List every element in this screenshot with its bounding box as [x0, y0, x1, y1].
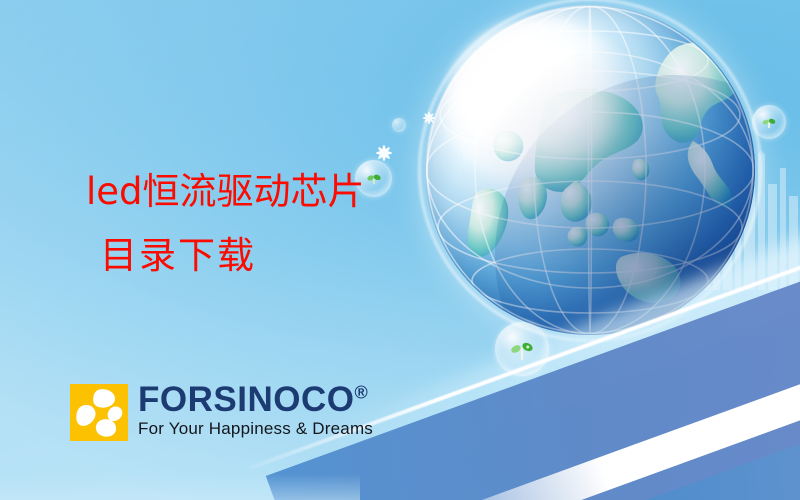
- brand-name-text: FORSINOCO: [138, 380, 354, 419]
- green-sprout-icon: [508, 336, 536, 364]
- brand-wordmark: FORSINOCO® For Your Happiness & Dreams: [138, 382, 373, 439]
- headline-line-2: 目录下载: [86, 224, 506, 288]
- headline-line-1: led恒流驱动芯片: [86, 170, 365, 213]
- headline-text: led恒流驱动芯片 目录下载: [86, 160, 506, 288]
- ribbon-blue-lower: [460, 356, 800, 500]
- green-sprout-icon: [761, 114, 778, 131]
- brand-logo-lockup: FORSINOCO® For Your Happiness & Dreams: [70, 384, 373, 441]
- promo-banner: led恒流驱动芯片 目录下载 FORSINOCO®: [0, 0, 800, 500]
- soap-bubble-icon-edge: [752, 105, 786, 139]
- soap-bubble-icon-tiny: [392, 118, 406, 132]
- asterisk-sparkle-icon-small: [419, 108, 439, 133]
- ribbon-bottom-fade: [0, 474, 360, 500]
- four-petal-pinwheel-icon: [70, 384, 128, 441]
- soap-bubble-icon-large: [495, 322, 549, 376]
- registered-trademark-icon: ®: [354, 382, 368, 402]
- brand-tagline: For Your Happiness & Dreams: [138, 419, 373, 439]
- brand-name: FORSINOCO®: [138, 382, 373, 418]
